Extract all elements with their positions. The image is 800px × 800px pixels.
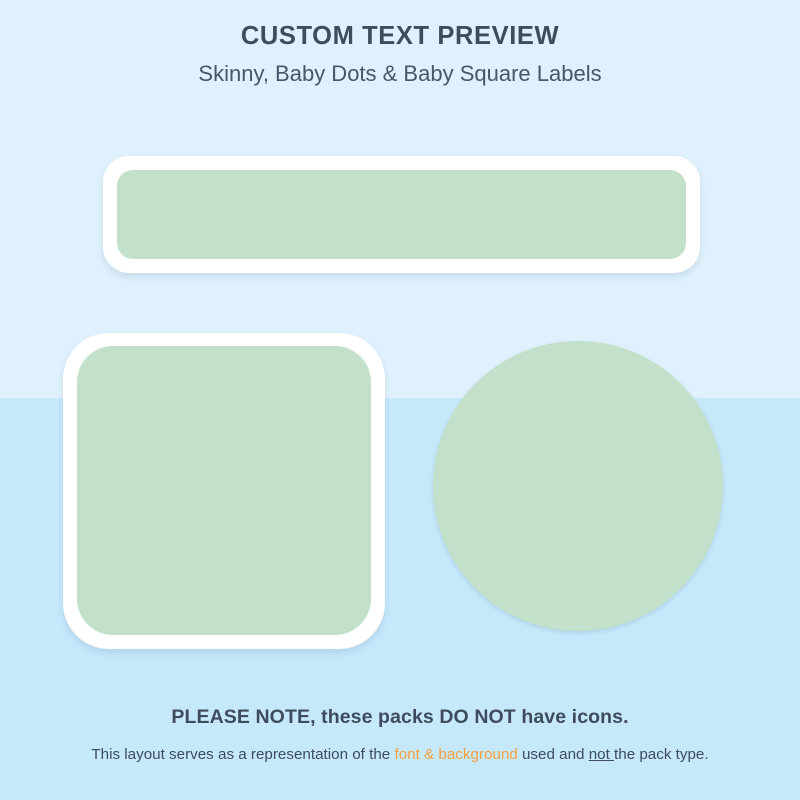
footer-note-detail-part2: used and <box>518 746 589 763</box>
baby-dot-label-fill <box>433 341 723 631</box>
footer-note-detail: This layout serves as a representation o… <box>0 745 800 765</box>
baby-square-label-fill <box>77 346 371 635</box>
preview-canvas: CUSTOM TEXT PREVIEW Skinny, Baby Dots & … <box>0 0 800 800</box>
page-title: CUSTOM TEXT PREVIEW <box>0 22 800 51</box>
footer-note-detail-part3: the pack type. <box>614 746 709 763</box>
header: CUSTOM TEXT PREVIEW Skinny, Baby Dots & … <box>0 22 800 88</box>
skinny-label-fill <box>117 170 686 259</box>
footer: PLEASE NOTE, these packs DO NOT have ico… <box>0 706 800 765</box>
footer-note-detail-part1: This layout serves as a representation o… <box>91 746 394 763</box>
page-subtitle: Skinny, Baby Dots & Baby Square Labels <box>0 61 800 87</box>
footer-note-detail-underline: not <box>589 746 614 763</box>
footer-note-detail-highlight: font & background <box>394 746 517 763</box>
footer-note-heading: PLEASE NOTE, these packs DO NOT have ico… <box>0 706 800 729</box>
